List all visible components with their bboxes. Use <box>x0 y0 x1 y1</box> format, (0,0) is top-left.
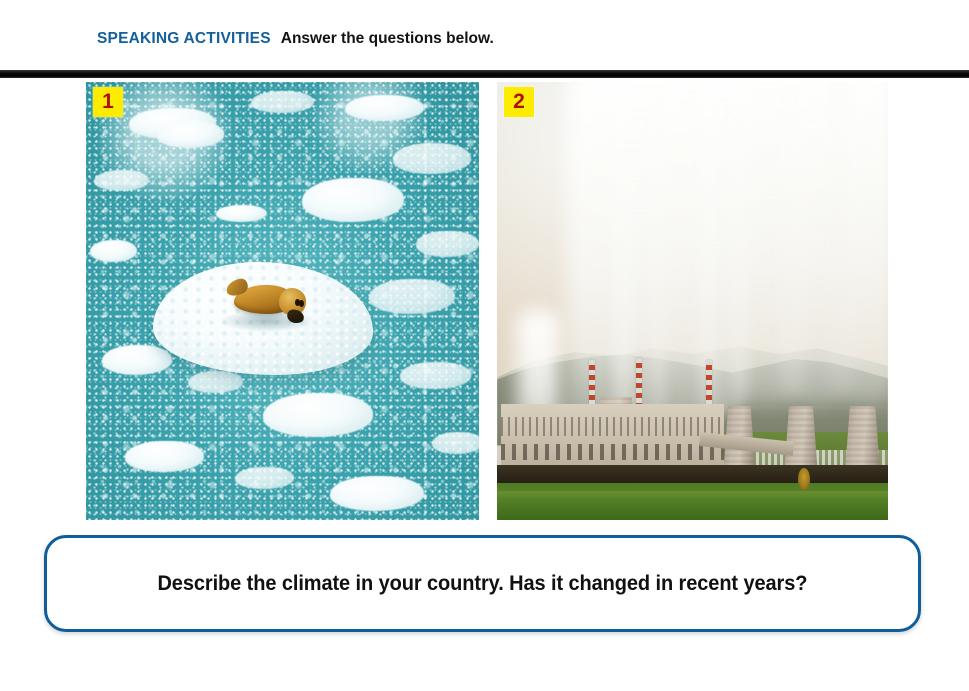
photo-2-scene <box>497 82 888 520</box>
page-header: SPEAKING ACTIVITIES Answer the questions… <box>0 0 969 70</box>
ice-floe <box>251 91 314 113</box>
question-box[interactable]: Describe the climate in your country. Ha… <box>44 535 921 632</box>
cooling-tower <box>784 406 817 472</box>
green-field <box>497 483 888 520</box>
photo-2-power-plant[interactable]: 2 <box>497 82 888 520</box>
header-divider <box>0 70 969 78</box>
ice-floe <box>369 279 455 314</box>
field-highlight <box>497 491 888 498</box>
seal-eye <box>299 300 304 307</box>
question-text: Describe the climate in your country. Ha… <box>158 571 808 596</box>
instruction-text: Answer the questions below. <box>281 30 494 48</box>
section-label: SPEAKING ACTIVITIES <box>97 30 271 48</box>
photo-1-seal-on-ice[interactable]: 1 <box>86 82 479 520</box>
image-row: 1 <box>86 82 888 520</box>
ice-floe <box>125 441 204 472</box>
seal <box>227 277 306 321</box>
cooling-tower <box>845 406 880 472</box>
ice-floe <box>188 371 243 393</box>
ice-floe <box>416 231 479 257</box>
ice-floe <box>216 205 267 223</box>
image-number-badge-1: 1 <box>93 87 123 117</box>
image-number-badge-2: 2 <box>504 87 534 117</box>
building-window-row <box>501 444 724 460</box>
ice-floe <box>400 362 471 388</box>
power-plant-building <box>501 404 724 465</box>
ice-floe <box>90 240 137 262</box>
photo-1-scene <box>86 82 479 520</box>
smoke-plume <box>837 82 888 406</box>
ice-floe <box>330 476 424 511</box>
ice-floe <box>157 121 224 147</box>
ice-floe <box>263 393 373 437</box>
ice-floe <box>302 178 404 222</box>
ice-floe <box>432 432 479 454</box>
ice-floe <box>393 143 472 174</box>
building-window-row <box>501 417 724 435</box>
speaking-activity-page: SPEAKING ACTIVITIES Answer the questions… <box>0 0 969 691</box>
header-text-group: SPEAKING ACTIVITIES Answer the questions… <box>97 30 494 48</box>
lone-tree <box>798 468 810 490</box>
